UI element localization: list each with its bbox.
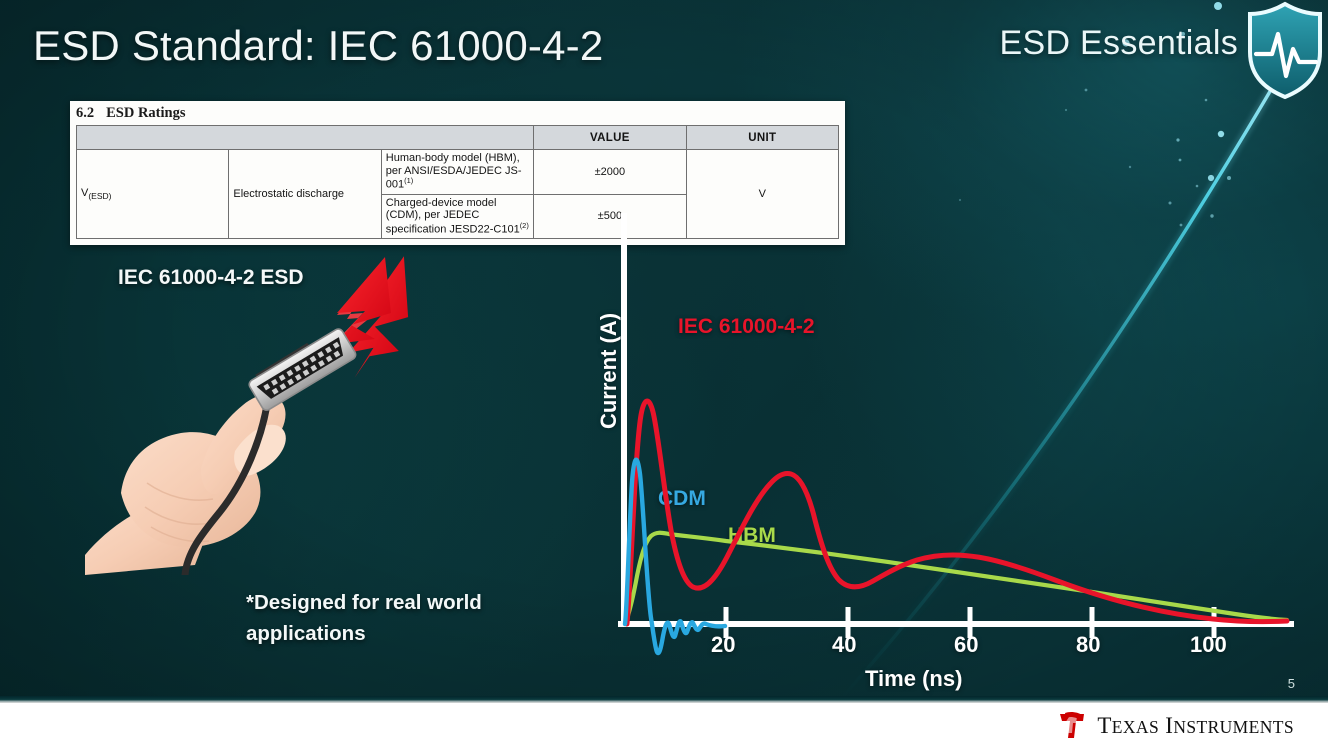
model-cell-hbm: Human-body model (HBM), per ANSI/ESDA/JE… [381, 150, 533, 195]
param-symbol-cell: V(ESD) [77, 150, 229, 239]
hand-holding-connector-icon [85, 255, 435, 575]
slide-canvas: ESD Standard: IEC 61000-4-2 ESD Essentia… [0, 0, 1328, 746]
ti-word-nstruments: NSTRUMENTS [1173, 717, 1294, 737]
texas-instruments-wordmark: TEXAS INSTRUMENTS [1097, 713, 1294, 739]
esd-waveform-chart: Current (A) Time (ns) IEC 61000-4-2 CDM … [565, 200, 1325, 700]
page-title: ESD Standard: IEC 61000-4-2 [33, 22, 603, 70]
footnote-note: *Designed for real world applications [246, 588, 546, 650]
table-row: V(ESD) Electrostatic discharge Human-bod… [77, 150, 839, 195]
texas-instruments-logo-icon [1056, 711, 1088, 741]
table-section-number: 6.2 [76, 105, 94, 121]
table-section-heading: 6.2ESD Ratings [70, 101, 845, 125]
page-number: 5 [1288, 676, 1295, 691]
ti-word-exas: EXAS [1112, 717, 1159, 737]
model-text-cdm: Charged-device model (CDM), per JEDEC sp… [386, 197, 520, 236]
series-line-iec [627, 401, 1287, 624]
table-header-blank [77, 126, 534, 150]
footnote-2: (2) [520, 221, 529, 230]
param-symbol-subscript: (ESD) [88, 191, 111, 201]
texas-instruments-logo: TEXAS INSTRUMENTS [1056, 711, 1294, 741]
chart-plot-area [565, 200, 1325, 700]
table-header-row: VALUE UNIT [77, 126, 839, 150]
param-description-cell: Electrostatic discharge [229, 150, 381, 239]
brand-label: ESD Essentials [999, 24, 1238, 63]
shield-heartbeat-icon [1242, 0, 1328, 104]
ti-word-t: T [1097, 713, 1111, 738]
table-header-unit: UNIT [686, 126, 838, 150]
table-section-title: ESD Ratings [106, 105, 185, 121]
value-cell-hbm: ±2000 [534, 150, 686, 195]
model-cell-cdm: Charged-device model (CDM), per JEDEC sp… [381, 194, 533, 239]
table-header-value: VALUE [534, 126, 686, 150]
footnote-1: (1) [404, 176, 413, 185]
